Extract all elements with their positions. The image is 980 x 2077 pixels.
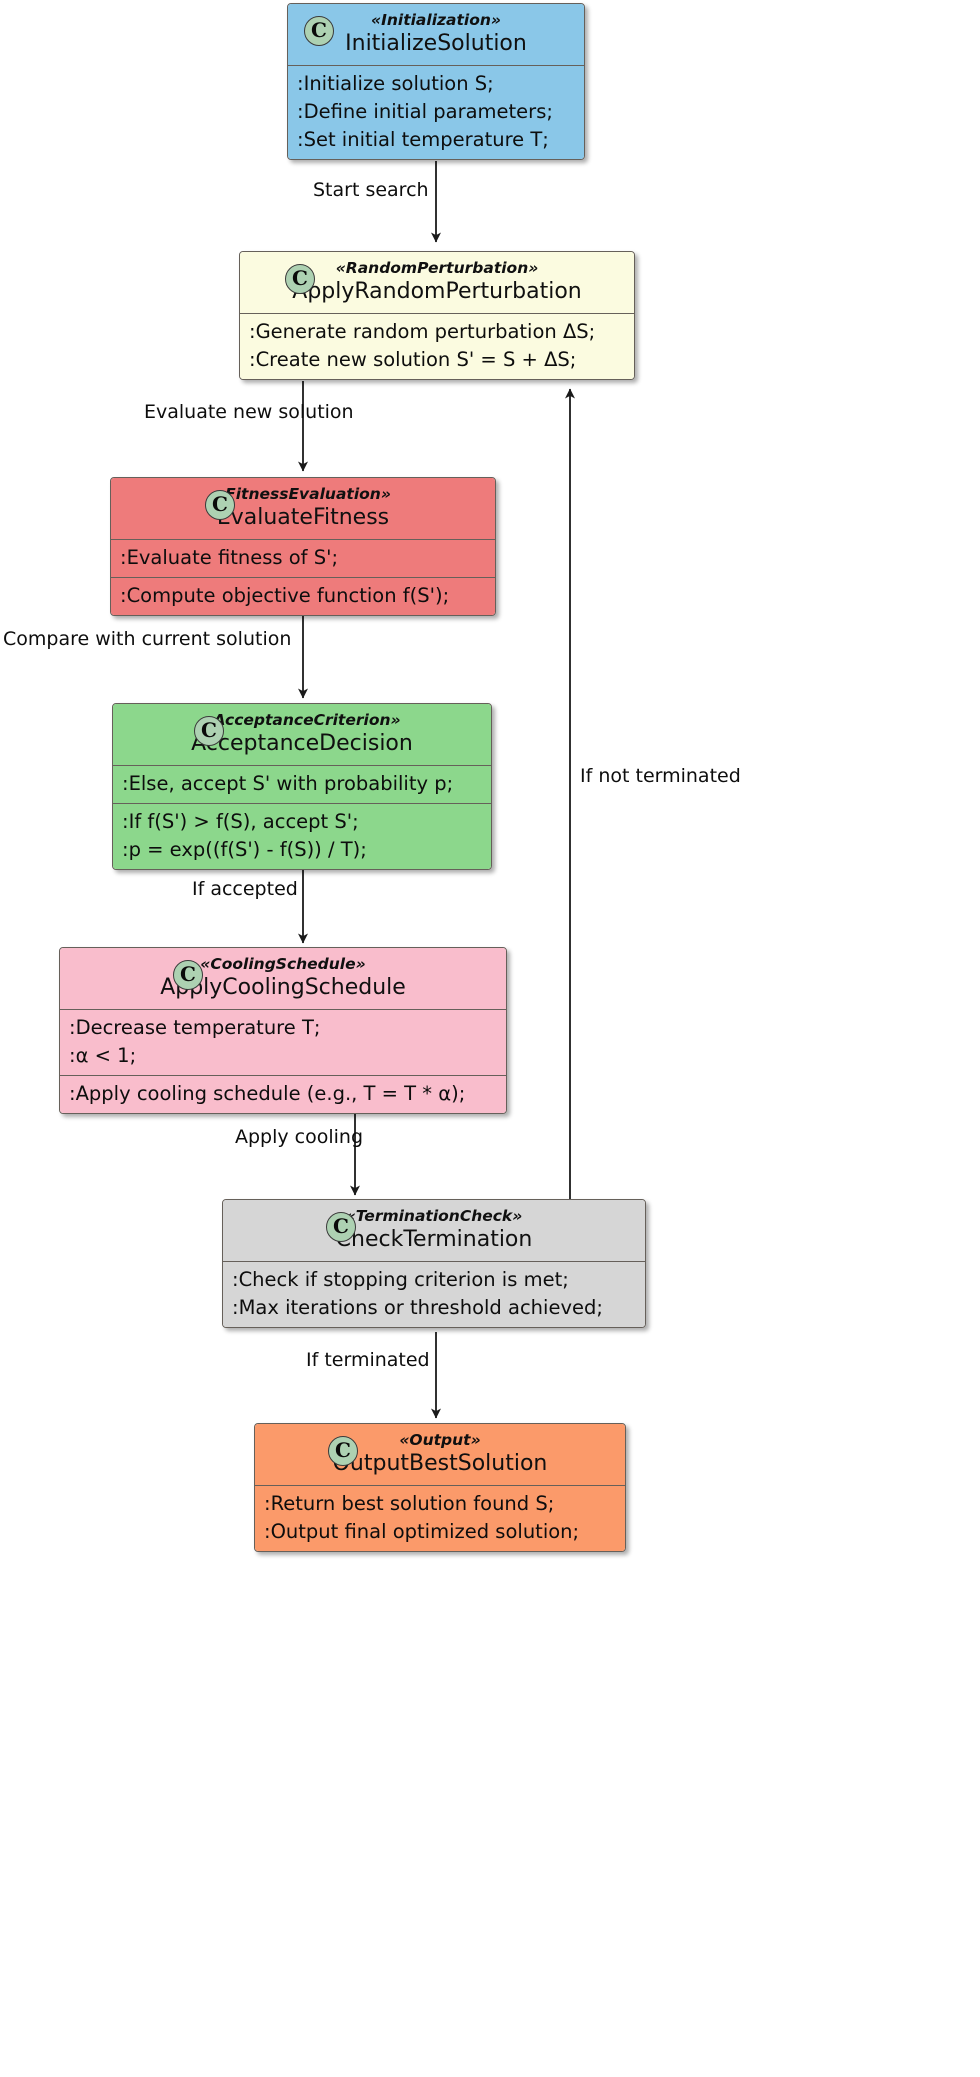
edge-label-if-accepted: If accepted [192, 878, 298, 900]
attribute-row: :Generate random perturbation ΔS; [249, 318, 625, 346]
attribute-row: :Create new solution S' = S + ΔS; [249, 346, 625, 374]
node-classname: OutputBestSolution [265, 1450, 615, 1477]
class-badge-icon: C [326, 1212, 356, 1242]
node-compartment: :Else, accept S' with probability p; [113, 765, 491, 803]
node-classname: AcceptanceDecision [123, 730, 481, 757]
attribute-row: :Evaluate fitness of S'; [120, 544, 486, 572]
node-compartment: :Initialize solution S; :Define initial … [288, 65, 584, 159]
node-header: C «FitnessEvaluation» EvaluateFitness [111, 478, 495, 539]
node-classname: ApplyCoolingSchedule [70, 974, 496, 1001]
node-header: C «TerminationCheck» CheckTermination [223, 1200, 645, 1261]
attribute-row: :p = exp((f(S') - f(S)) / T); [122, 836, 482, 864]
node-compartment: :If f(S') > f(S), accept S'; :p = exp((f… [113, 803, 491, 869]
attribute-row: :Initialize solution S; [297, 70, 575, 98]
node-compartment: :Return best solution found S; :Output f… [255, 1485, 625, 1551]
node-classname: EvaluateFitness [121, 504, 485, 531]
node-header: C «Initialization» InitializeSolution [288, 4, 584, 65]
uml-node-check-termination[interactable]: C «TerminationCheck» CheckTermination :C… [222, 1199, 646, 1328]
attribute-row: :Output final optimized solution; [264, 1518, 616, 1546]
node-header: C «CoolingSchedule» ApplyCoolingSchedule [60, 948, 506, 1009]
node-stereotype: «AcceptanceCriterion» [123, 711, 481, 730]
class-badge-icon: C [205, 490, 235, 520]
attribute-row: :Compute objective function f(S'); [120, 582, 486, 610]
edge-label-compare-with-current-solution: Compare with current solution [3, 628, 291, 650]
attribute-row: :Decrease temperature T; [69, 1014, 497, 1042]
uml-class-diagram: C «Initialization» InitializeSolution :I… [0, 0, 980, 2077]
attribute-row: :Check if stopping criterion is met; [232, 1266, 636, 1294]
attribute-row: :Set initial temperature T; [297, 126, 575, 154]
node-classname: InitializeSolution [298, 30, 574, 57]
class-badge-icon: C [173, 960, 203, 990]
attribute-row: :Apply cooling schedule (e.g., T = T * α… [69, 1080, 497, 1108]
attribute-row: :Define initial parameters; [297, 98, 575, 126]
attribute-row: :If f(S') > f(S), accept S'; [122, 808, 482, 836]
class-badge-icon: C [285, 264, 315, 294]
node-stereotype: «FitnessEvaluation» [121, 485, 485, 504]
node-compartment: :Decrease temperature T; :α < 1; [60, 1009, 506, 1075]
edge-label-if-not-terminated: If not terminated [580, 765, 741, 787]
class-badge-icon: C [194, 716, 224, 746]
uml-node-apply-random-perturbation[interactable]: C «RandomPerturbation» ApplyRandomPertur… [239, 251, 635, 380]
attribute-row: :Else, accept S' with probability p; [122, 770, 482, 798]
node-compartment: :Generate random perturbation ΔS; :Creat… [240, 313, 634, 379]
node-compartment: :Check if stopping criterion is met; :Ma… [223, 1261, 645, 1327]
node-classname: CheckTermination [233, 1226, 635, 1253]
node-stereotype: «Output» [265, 1431, 615, 1450]
node-compartment: :Evaluate fitness of S'; [111, 539, 495, 577]
uml-node-acceptance-decision[interactable]: C «AcceptanceCriterion» AcceptanceDecisi… [112, 703, 492, 870]
class-badge-icon: C [328, 1436, 358, 1466]
attribute-row: :α < 1; [69, 1042, 497, 1070]
uml-node-output-best-solution[interactable]: C «Output» OutputBestSolution :Return be… [254, 1423, 626, 1552]
edge-label-evaluate-new-solution: Evaluate new solution [144, 401, 354, 423]
uml-node-evaluate-fitness[interactable]: C «FitnessEvaluation» EvaluateFitness :E… [110, 477, 496, 616]
node-header: C «RandomPerturbation» ApplyRandomPertur… [240, 252, 634, 313]
node-compartment: :Apply cooling schedule (e.g., T = T * α… [60, 1075, 506, 1113]
edge-label-if-terminated: If terminated [306, 1349, 430, 1371]
attribute-row: :Return best solution found S; [264, 1490, 616, 1518]
node-compartment: :Compute objective function f(S'); [111, 577, 495, 615]
edge-label-apply-cooling: Apply cooling [235, 1126, 363, 1148]
node-header: C «Output» OutputBestSolution [255, 1424, 625, 1485]
node-stereotype: «Initialization» [298, 11, 574, 30]
node-header: C «AcceptanceCriterion» AcceptanceDecisi… [113, 704, 491, 765]
node-stereotype: «TerminationCheck» [233, 1207, 635, 1226]
edge-label-start-search: Start search [313, 179, 429, 201]
attribute-row: :Max iterations or threshold achieved; [232, 1294, 636, 1322]
class-badge-icon: C [304, 16, 334, 46]
uml-node-initialize-solution[interactable]: C «Initialization» InitializeSolution :I… [287, 3, 585, 160]
node-stereotype: «CoolingSchedule» [70, 955, 496, 974]
uml-node-apply-cooling-schedule[interactable]: C «CoolingSchedule» ApplyCoolingSchedule… [59, 947, 507, 1114]
